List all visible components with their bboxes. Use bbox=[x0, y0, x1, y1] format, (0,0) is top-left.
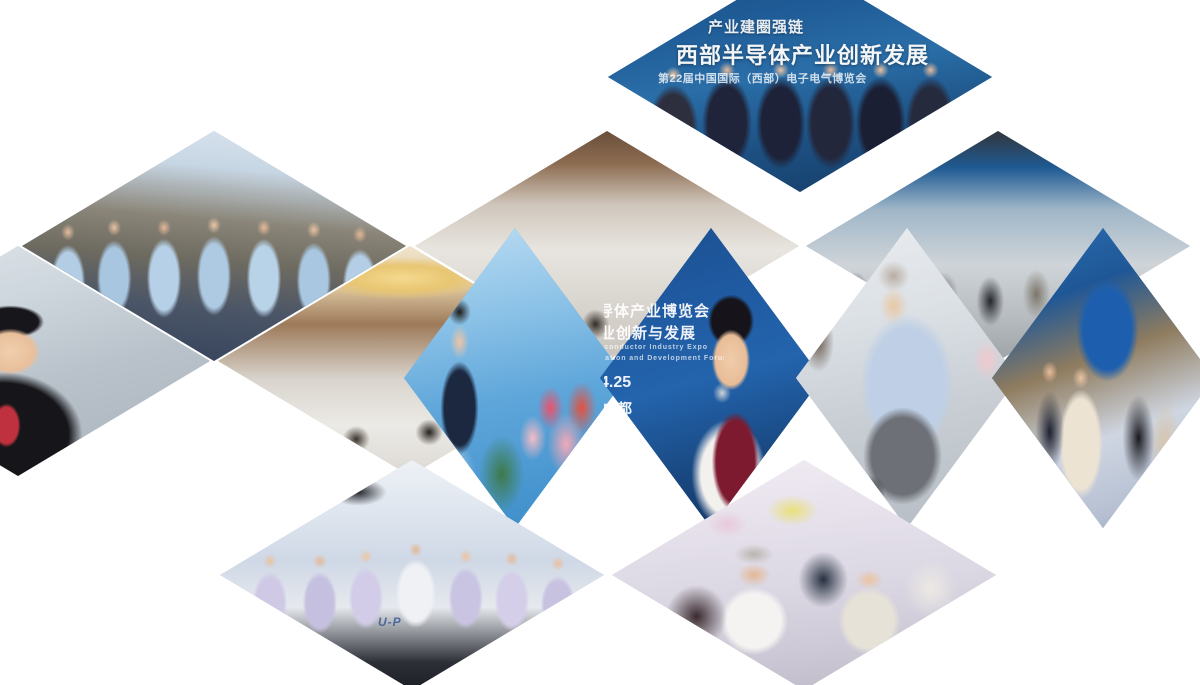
tile-seated-visitors bbox=[612, 460, 996, 685]
stage-group-photo-image bbox=[608, 0, 992, 192]
tile-stage-group-photo bbox=[608, 0, 992, 192]
photo-mosaic-collage: 产业建圈强链 西部半导体产业创新发展 第22届中国国际（西部）电子电气博览会 半… bbox=[0, 0, 1200, 685]
tile-team-lavender-shirts bbox=[220, 460, 604, 685]
team-lavender-shirts-image bbox=[220, 460, 604, 685]
seated-visitors-image bbox=[612, 460, 996, 685]
